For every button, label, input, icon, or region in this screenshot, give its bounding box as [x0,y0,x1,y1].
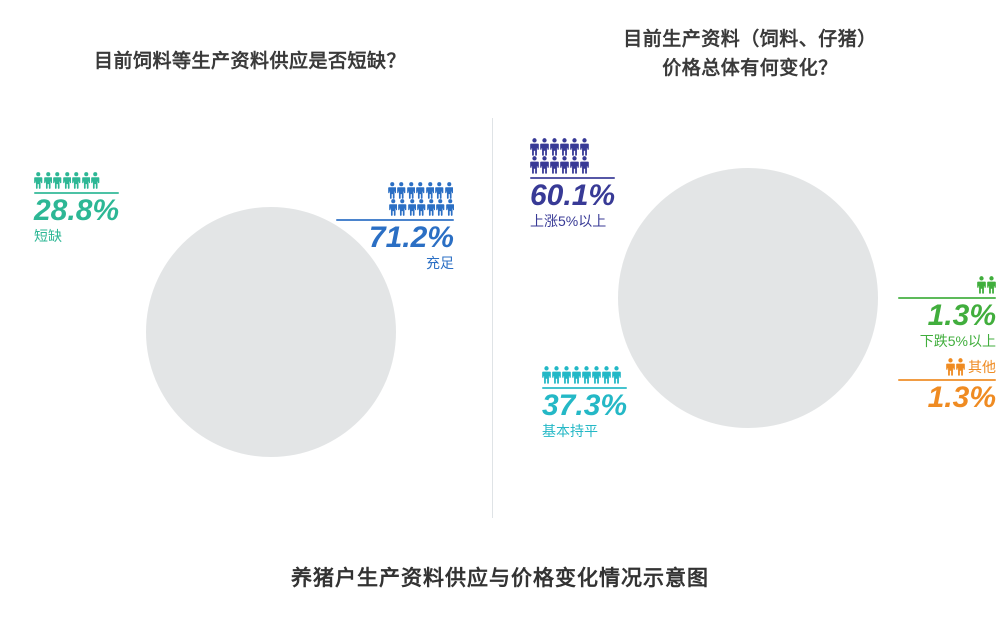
person-icon-glyph [446,199,455,216]
callout-shortage: 28.8% 短缺 [34,172,119,246]
person-icon-glyph [550,138,559,156]
callout-percent: 71.2% [336,222,454,254]
person-icon [570,156,579,174]
person-icon [550,156,559,174]
person-icon [560,138,569,156]
person-icon-glyph [388,182,397,199]
callout-other-head: 其他 [898,358,996,376]
callout-sublabel: 基本持平 [542,422,627,440]
person-icon [580,156,589,174]
person-icon-glyph [408,199,417,216]
person-icon-glyph [530,138,539,156]
person-icon-glyph [540,156,549,174]
person-icons-price-flat [542,366,627,384]
person-icon-glyph [389,199,398,216]
person-icon [91,172,100,189]
person-icons-enough [336,182,454,216]
person-icon [53,172,62,189]
person-icon [427,199,436,216]
person-icons-shortage [34,172,119,189]
person-icon-glyph [592,366,601,384]
person-icon [446,199,455,216]
callout-price-other: 其他 1.3% [898,358,996,415]
infographic-canvas: 目前饲料等生产资料供应是否短缺？ 目前生产资料（饲料、仔猪） 价格总体有何变化？… [0,0,1000,627]
callout-price-up: 60.1% 上涨5%以上 [530,138,615,231]
person-icon [572,366,581,384]
person-icon-glyph [445,182,454,199]
callout-price-flat: 37.3% 基本持平 [542,366,627,441]
callout-rule [542,387,627,389]
person-icon [552,366,561,384]
person-icon [426,182,435,199]
person-icon [956,358,965,376]
person-icon-glyph [417,199,426,216]
person-icon [562,366,571,384]
person-icon [82,172,91,189]
person-icon [445,182,454,199]
person-icon-glyph [63,172,72,189]
person-icon-glyph [580,156,589,174]
person-icon [408,199,417,216]
person-icon-glyph [435,182,444,199]
person-icon-glyph [550,156,559,174]
person-icons-price-up [530,138,615,174]
person-icon-glyph [552,366,561,384]
person-icon-glyph [612,366,621,384]
person-icon-glyph [91,172,100,189]
callout-percent: 37.3% [542,390,627,422]
callout-rule [336,219,454,221]
person-icon-glyph [530,156,539,174]
person-icon-glyph [82,172,91,189]
person-icon-glyph [560,156,569,174]
person-icon-glyph [582,366,591,384]
callout-rule [898,297,996,299]
person-icon [407,182,416,199]
right-chart-title-line1: 目前生产资料（饲料、仔猪） [500,26,1000,55]
callout-sublabel: 下跌5%以上 [898,332,996,350]
person-icon [550,138,559,156]
person-icon [44,172,53,189]
right-pie-shadow [618,168,878,428]
person-icon-glyph [570,138,579,156]
callout-enough: 71.2% 充足 [336,182,454,273]
person-icon [560,156,569,174]
person-icon [570,138,579,156]
person-icon-glyph [44,172,53,189]
person-icon [389,199,398,216]
right-pie-chart [600,150,920,460]
callout-price-down: 1.3% 下跌5%以上 [898,276,996,351]
person-icon-glyph [580,138,589,156]
section-divider [492,118,493,518]
person-icon-glyph [572,366,581,384]
right-chart-title-line2: 价格总体有何变化？ [500,55,1000,84]
person-icon-glyph [426,182,435,199]
person-icon [592,366,601,384]
person-icon [987,276,996,294]
person-icon [416,182,425,199]
callout-sublabel: 其他 [968,359,996,375]
person-icon [436,199,445,216]
callout-percent: 1.3% [898,382,996,414]
callout-sublabel: 充足 [336,254,454,272]
right-chart-title: 目前生产资料（饲料、仔猪） 价格总体有何变化？ [500,26,1000,83]
person-icon [530,138,539,156]
person-icon [34,172,43,189]
person-icon [946,358,955,376]
person-icon [417,199,426,216]
callout-rule [530,177,615,179]
person-icon [398,199,407,216]
person-icon-glyph [72,172,81,189]
callout-percent: 1.3% [898,300,996,332]
person-icon [435,182,444,199]
person-icon-glyph [542,366,551,384]
callout-percent: 60.1% [530,180,615,212]
person-icon-glyph [34,172,43,189]
person-icon [580,138,589,156]
person-icon-glyph [416,182,425,199]
right-pie-svg [600,150,920,460]
person-icon [582,366,591,384]
person-icon [540,156,549,174]
figure-caption: 养猪户生产资料供应与价格变化情况示意图 [0,562,1000,592]
person-icon-glyph [987,276,996,294]
person-icon [388,182,397,199]
person-icon-glyph [407,182,416,199]
person-icon-glyph [560,138,569,156]
callout-percent: 28.8% [34,195,119,227]
person-icon [530,156,539,174]
person-icon-glyph [398,199,407,216]
person-icon-glyph [956,358,965,376]
callout-rule [34,192,119,194]
person-icon-glyph [436,199,445,216]
callout-sublabel: 短缺 [34,227,119,245]
person-icon [397,182,406,199]
person-icon-glyph [562,366,571,384]
person-icon [63,172,72,189]
left-chart-title: 目前饲料等生产资料供应是否短缺？ [0,48,500,77]
person-icon [540,138,549,156]
callout-sublabel: 上涨5%以上 [530,212,615,230]
person-icon [542,366,551,384]
person-icon [602,366,611,384]
person-icon [977,276,986,294]
person-icon-glyph [602,366,611,384]
person-icon-glyph [540,138,549,156]
person-icon-glyph [53,172,62,189]
person-icon-glyph [570,156,579,174]
person-icon-glyph [946,358,955,376]
person-icon [72,172,81,189]
person-icons-price-down [898,276,996,294]
person-icon-glyph [427,199,436,216]
person-icon [612,366,621,384]
person-icon-glyph [977,276,986,294]
person-icon-glyph [397,182,406,199]
